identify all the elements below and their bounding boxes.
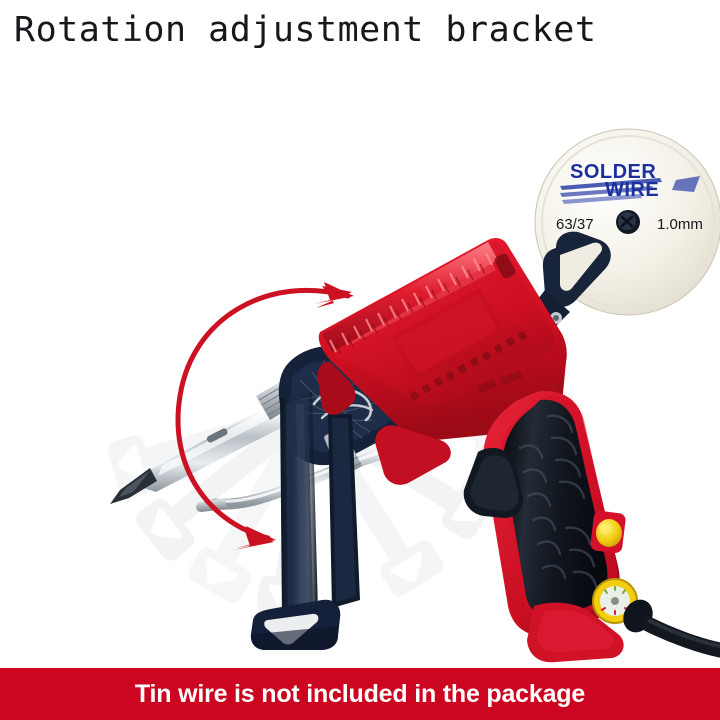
disclaimer-banner: Tin wire is not included in the package [0, 668, 720, 720]
spool-diameter-label: 1.0mm [657, 216, 703, 233]
spool-brand-line2: WIRE [605, 179, 659, 201]
power-button[interactable] [590, 510, 627, 554]
product-illustration: SOLDER WIRE 63/37 1.0mm [0, 0, 720, 720]
spool-alloy-label: 63/37 [556, 216, 594, 233]
gun-handle [464, 391, 637, 662]
disclaimer-text: Tin wire is not included in the package [135, 680, 585, 709]
product-figure: Rotation adjustment bracket [0, 0, 720, 720]
power-cord [618, 594, 720, 650]
